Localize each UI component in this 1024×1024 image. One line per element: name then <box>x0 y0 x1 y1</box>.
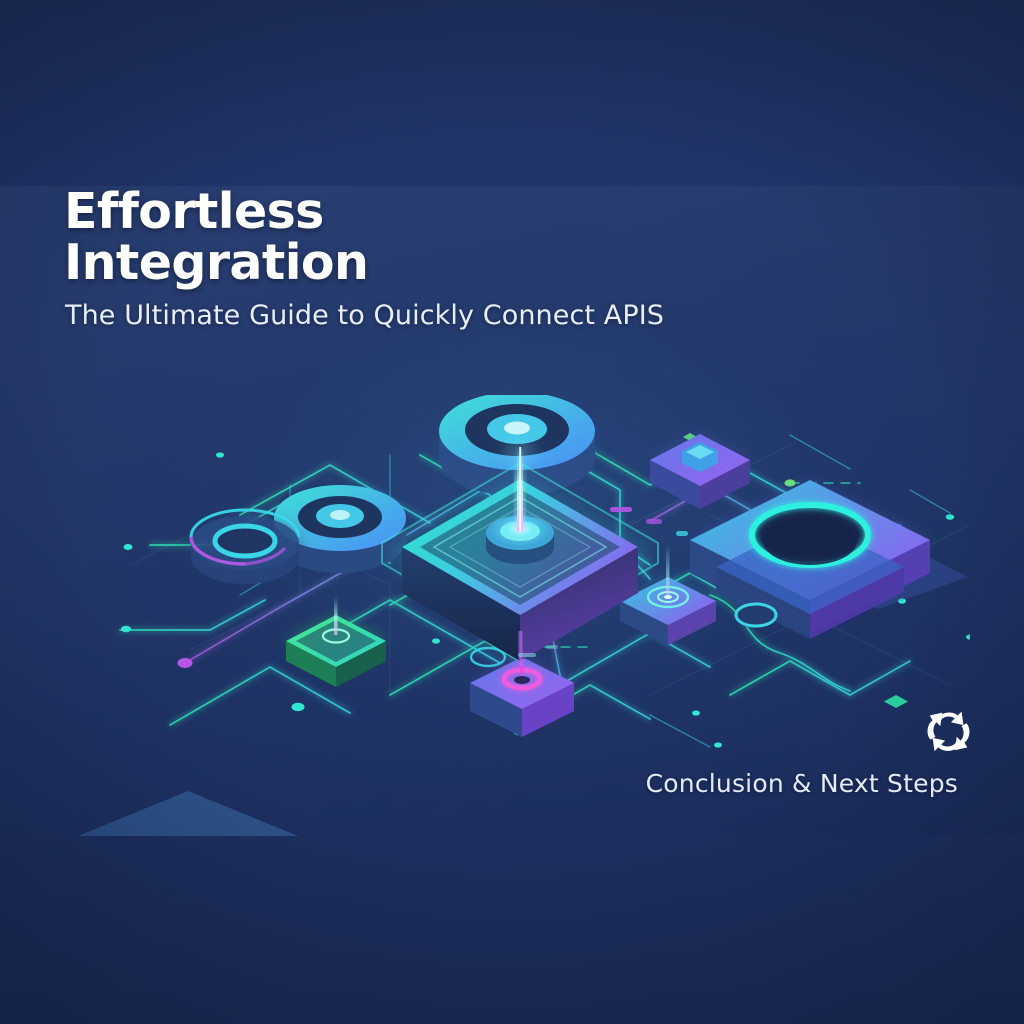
illustration-svg <box>90 395 970 755</box>
background-band-top <box>0 0 1024 186</box>
sync-cycle-icon <box>918 702 980 758</box>
small-surface-ring <box>736 604 776 628</box>
footer-caption: Conclusion & Next Steps <box>646 769 958 798</box>
page-subtitle: The Ultimate Guide to Quickly Connect AP… <box>65 300 664 331</box>
central-hub-platform <box>382 441 658 665</box>
right-hex-node <box>650 434 750 509</box>
slide-canvas: Effortless Integration The Ultimate Guid… <box>0 0 1024 1024</box>
isometric-illustration <box>90 395 970 755</box>
right-large-platform <box>690 480 930 639</box>
background-band-bottom <box>0 836 1024 1024</box>
page-title: Effortless Integration <box>64 186 368 288</box>
triangle-accent-shape <box>78 791 298 836</box>
